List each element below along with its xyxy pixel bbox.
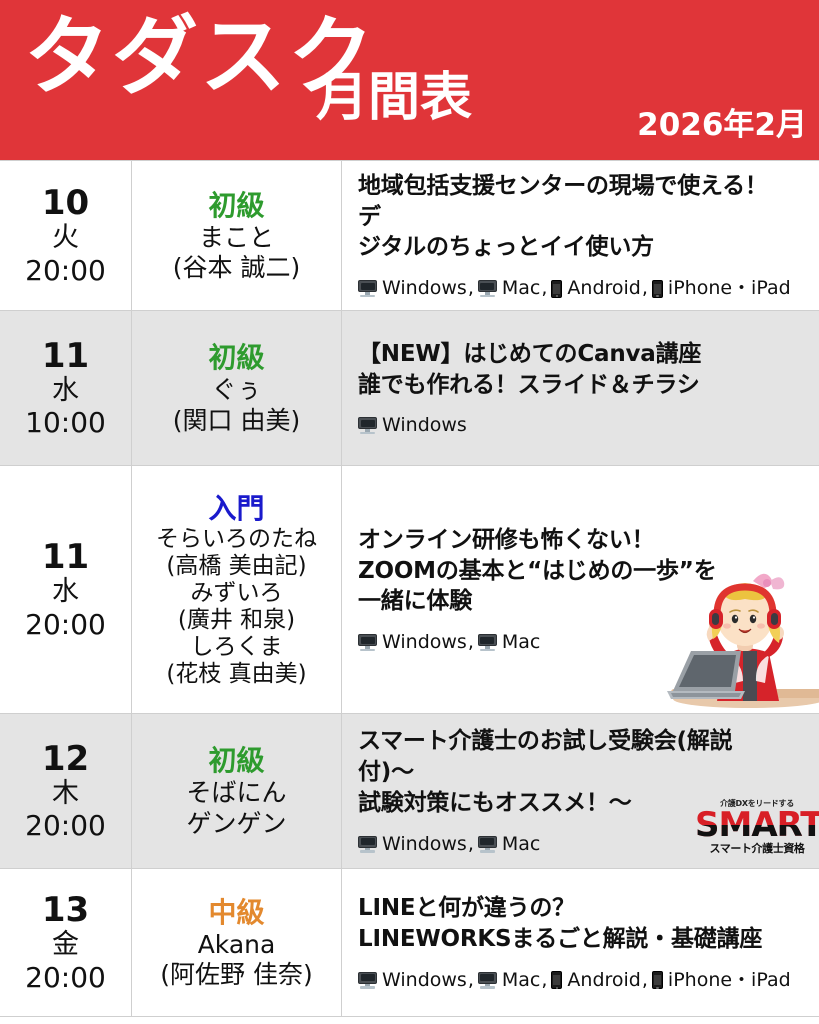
date-day: 12	[0, 740, 131, 778]
mobile-phone-icon	[551, 971, 562, 989]
platform-item: Mac	[478, 631, 540, 654]
level-badge: 初級	[132, 743, 341, 778]
platform-item: Windows	[358, 277, 467, 300]
mobile-phone-icon	[551, 280, 562, 298]
date-weekday: 木	[0, 778, 131, 810]
course-title-line: 【NEW】はじめてのCanva講座	[358, 339, 788, 370]
instructor-handle: ぐぅ	[132, 375, 341, 406]
schedule-row[interactable]: 10火20:00初級まこと(谷本 誠二)地域包括支援センターの現場で使える！デジ…	[0, 161, 819, 311]
platform-label: iPhone・iPad	[663, 969, 791, 991]
desktop-computer-icon	[478, 836, 497, 853]
course-cell[interactable]: 【NEW】はじめてのCanva講座誰でも作れる！スライド＆チラシWindows	[342, 311, 819, 466]
platform-label: Mac	[497, 969, 540, 991]
date-weekday: 水	[0, 375, 131, 407]
platform-separator: ,	[641, 969, 652, 992]
mobile-phone-icon	[652, 971, 663, 989]
schedule-row[interactable]: 11水10:00初級ぐぅ(関口 由美)【NEW】はじめてのCanva講座誰でも作…	[0, 311, 819, 466]
platform-separator: ,	[467, 969, 478, 992]
desktop-computer-icon	[358, 972, 377, 989]
instructor-handle: しろくま	[132, 634, 341, 661]
course-cell[interactable]: スマート介護士のお試し受験会(解説付)〜試験対策にもオススメ！〜Windows,…	[342, 714, 819, 869]
instructor-real-name: (高橋 美由記)	[132, 553, 341, 580]
platform-list: Windows,Mac,Android,iPhone・iPad	[358, 969, 819, 992]
instructor-real-name: (花枝 真由美)	[132, 661, 341, 688]
platform-item: Android	[551, 969, 640, 992]
instructor-cell: 中級Akana(阿佐野 佳奈)	[132, 869, 342, 1017]
date-weekday: 火	[0, 222, 131, 254]
date-day: 13	[0, 891, 131, 929]
schedule-row[interactable]: 11水20:00入門そらいろのたね(高橋 美由記)みずいろ(廣井 和泉)しろくま…	[0, 466, 819, 714]
date-day: 10	[0, 184, 131, 222]
platform-item: Windows	[358, 414, 467, 437]
course-title-line: ジタルのちょっとイイ使い方	[358, 232, 788, 263]
course-title-line: LINEと何が違うの？	[358, 893, 788, 924]
platform-list: Windows,Mac,Android,iPhone・iPad	[358, 277, 819, 300]
platform-label: Windows	[377, 277, 467, 299]
page-header: タダスク 月間表 2026年2月	[0, 0, 819, 160]
header-subtitle: 月間表	[316, 72, 472, 124]
instructor-cell: 初級まこと(谷本 誠二)	[132, 161, 342, 311]
desktop-computer-icon	[358, 417, 377, 434]
instructor-cell: 初級ぐぅ(関口 由美)	[132, 311, 342, 466]
course-title: 地域包括支援センターの現場で使える！デジタルのちょっとイイ使い方	[358, 171, 788, 263]
start-time: 10:00	[0, 406, 131, 439]
platform-label: iPhone・iPad	[663, 277, 791, 299]
platform-separator: ,	[467, 277, 478, 300]
course-title-line: スマート介護士のお試し受験会(解説付)〜	[358, 726, 788, 788]
desktop-computer-icon	[478, 972, 497, 989]
instructor-real-name: (阿佐野 佳奈)	[132, 960, 341, 991]
instructor-handle: Akana	[132, 930, 341, 961]
schedule-table: 10火20:00初級まこと(谷本 誠二)地域包括支援センターの現場で使える！デジ…	[0, 160, 819, 1017]
course-cell[interactable]: 地域包括支援センターの現場で使える！デジタルのちょっとイイ使い方Windows,…	[342, 161, 819, 311]
date-cell: 10火20:00	[0, 161, 132, 311]
level-badge: 初級	[132, 340, 341, 375]
instructor-illustration	[657, 563, 819, 711]
start-time: 20:00	[0, 254, 131, 287]
platform-item: Windows	[358, 969, 467, 992]
platform-label: Android	[562, 969, 640, 991]
course-title: 【NEW】はじめてのCanva講座誰でも作れる！スライド＆チラシ	[358, 339, 788, 401]
platform-separator: ,	[540, 277, 551, 300]
desktop-computer-icon	[358, 280, 377, 297]
schedule-row[interactable]: 12木20:00初級そばにんゲンゲンスマート介護士のお試し受験会(解説付)〜試験…	[0, 714, 819, 869]
course-title-line: 誰でも作れる！スライド＆チラシ	[358, 370, 788, 401]
platform-list: Windows	[358, 414, 819, 437]
instructor-real-name: (谷本 誠二)	[132, 253, 341, 284]
platform-label: Windows	[377, 414, 467, 436]
smart-certification-logo: 介護DXをリードするSMARTSMARTスマート介護士資格	[695, 800, 819, 854]
platform-item: Mac	[478, 833, 540, 856]
desktop-computer-icon	[358, 634, 377, 651]
schedule-row[interactable]: 13金20:00中級Akana(阿佐野 佳奈)LINEと何が違うの？LINEWO…	[0, 869, 819, 1017]
platform-separator: ,	[641, 277, 652, 300]
platform-item: iPhone・iPad	[652, 277, 791, 300]
platform-label: Mac	[497, 631, 540, 653]
course-title-line: オンライン研修も怖くない！	[358, 525, 788, 556]
course-title-line: LINEWORKSまるごと解説・基礎講座	[358, 924, 788, 955]
instructor-real-name: (廣井 和泉)	[132, 607, 341, 634]
platform-separator: ,	[467, 833, 478, 856]
date-day: 11	[0, 538, 131, 576]
level-badge: 初級	[132, 188, 341, 223]
course-title-line: 地域包括支援センターの現場で使える！デ	[358, 171, 788, 233]
instructor-handle: みずいろ	[132, 580, 341, 607]
platform-label: Android	[562, 277, 640, 299]
platform-item: iPhone・iPad	[652, 969, 791, 992]
date-cell: 11水20:00	[0, 466, 132, 714]
platform-item: Windows	[358, 833, 467, 856]
date-cell: 11水10:00	[0, 311, 132, 466]
platform-label: Windows	[377, 969, 467, 991]
date-weekday: 水	[0, 576, 131, 608]
platform-label: Windows	[377, 631, 467, 653]
date-cell: 13金20:00	[0, 869, 132, 1017]
platform-separator: ,	[540, 969, 551, 992]
instructor-cell: 入門そらいろのたね(高橋 美由記)みずいろ(廣井 和泉)しろくま(花枝 真由美)	[132, 466, 342, 714]
date-cell: 12木20:00	[0, 714, 132, 869]
start-time: 20:00	[0, 809, 131, 842]
header-period: 2026年2月	[637, 110, 807, 141]
instructor-handle: そらいろのたね	[132, 526, 341, 553]
smart-logo-tagline: 介護DXをリードする	[695, 800, 819, 808]
platform-label: Mac	[497, 277, 540, 299]
instructor-handle: まこと	[132, 223, 341, 254]
date-weekday: 金	[0, 929, 131, 961]
desktop-computer-icon	[478, 280, 497, 297]
start-time: 20:00	[0, 961, 131, 994]
smart-logo-word: SMARTSMART	[695, 808, 819, 842]
course-cell[interactable]: LINEと何が違うの？LINEWORKSまるごと解説・基礎講座Windows,M…	[342, 869, 819, 1017]
instructor-handle: そばにん	[132, 778, 341, 809]
course-cell[interactable]: オンライン研修も怖くない！ZOOMの基本と“はじめの一歩”を一緒に体験Windo…	[342, 466, 819, 714]
desktop-computer-icon	[358, 836, 377, 853]
platform-label: Windows	[377, 833, 467, 855]
platform-label: Mac	[497, 833, 540, 855]
instructor-real-name: (関口 由美)	[132, 406, 341, 437]
level-badge: 中級	[132, 895, 341, 930]
platform-item: Mac	[478, 969, 540, 992]
instructor-cell: 初級そばにんゲンゲン	[132, 714, 342, 869]
start-time: 20:00	[0, 608, 131, 641]
platform-item: Windows	[358, 631, 467, 654]
course-title: LINEと何が違うの？LINEWORKSまるごと解説・基礎講座	[358, 893, 788, 955]
mobile-phone-icon	[652, 280, 663, 298]
date-day: 11	[0, 337, 131, 375]
platform-item: Mac	[478, 277, 540, 300]
instructor-handle: ゲンゲン	[132, 809, 341, 840]
smart-logo-subtitle: スマート介護士資格	[695, 843, 819, 854]
platform-item: Android	[551, 277, 640, 300]
platform-separator: ,	[467, 631, 478, 654]
level-badge: 入門	[132, 491, 341, 526]
desktop-computer-icon	[478, 634, 497, 651]
